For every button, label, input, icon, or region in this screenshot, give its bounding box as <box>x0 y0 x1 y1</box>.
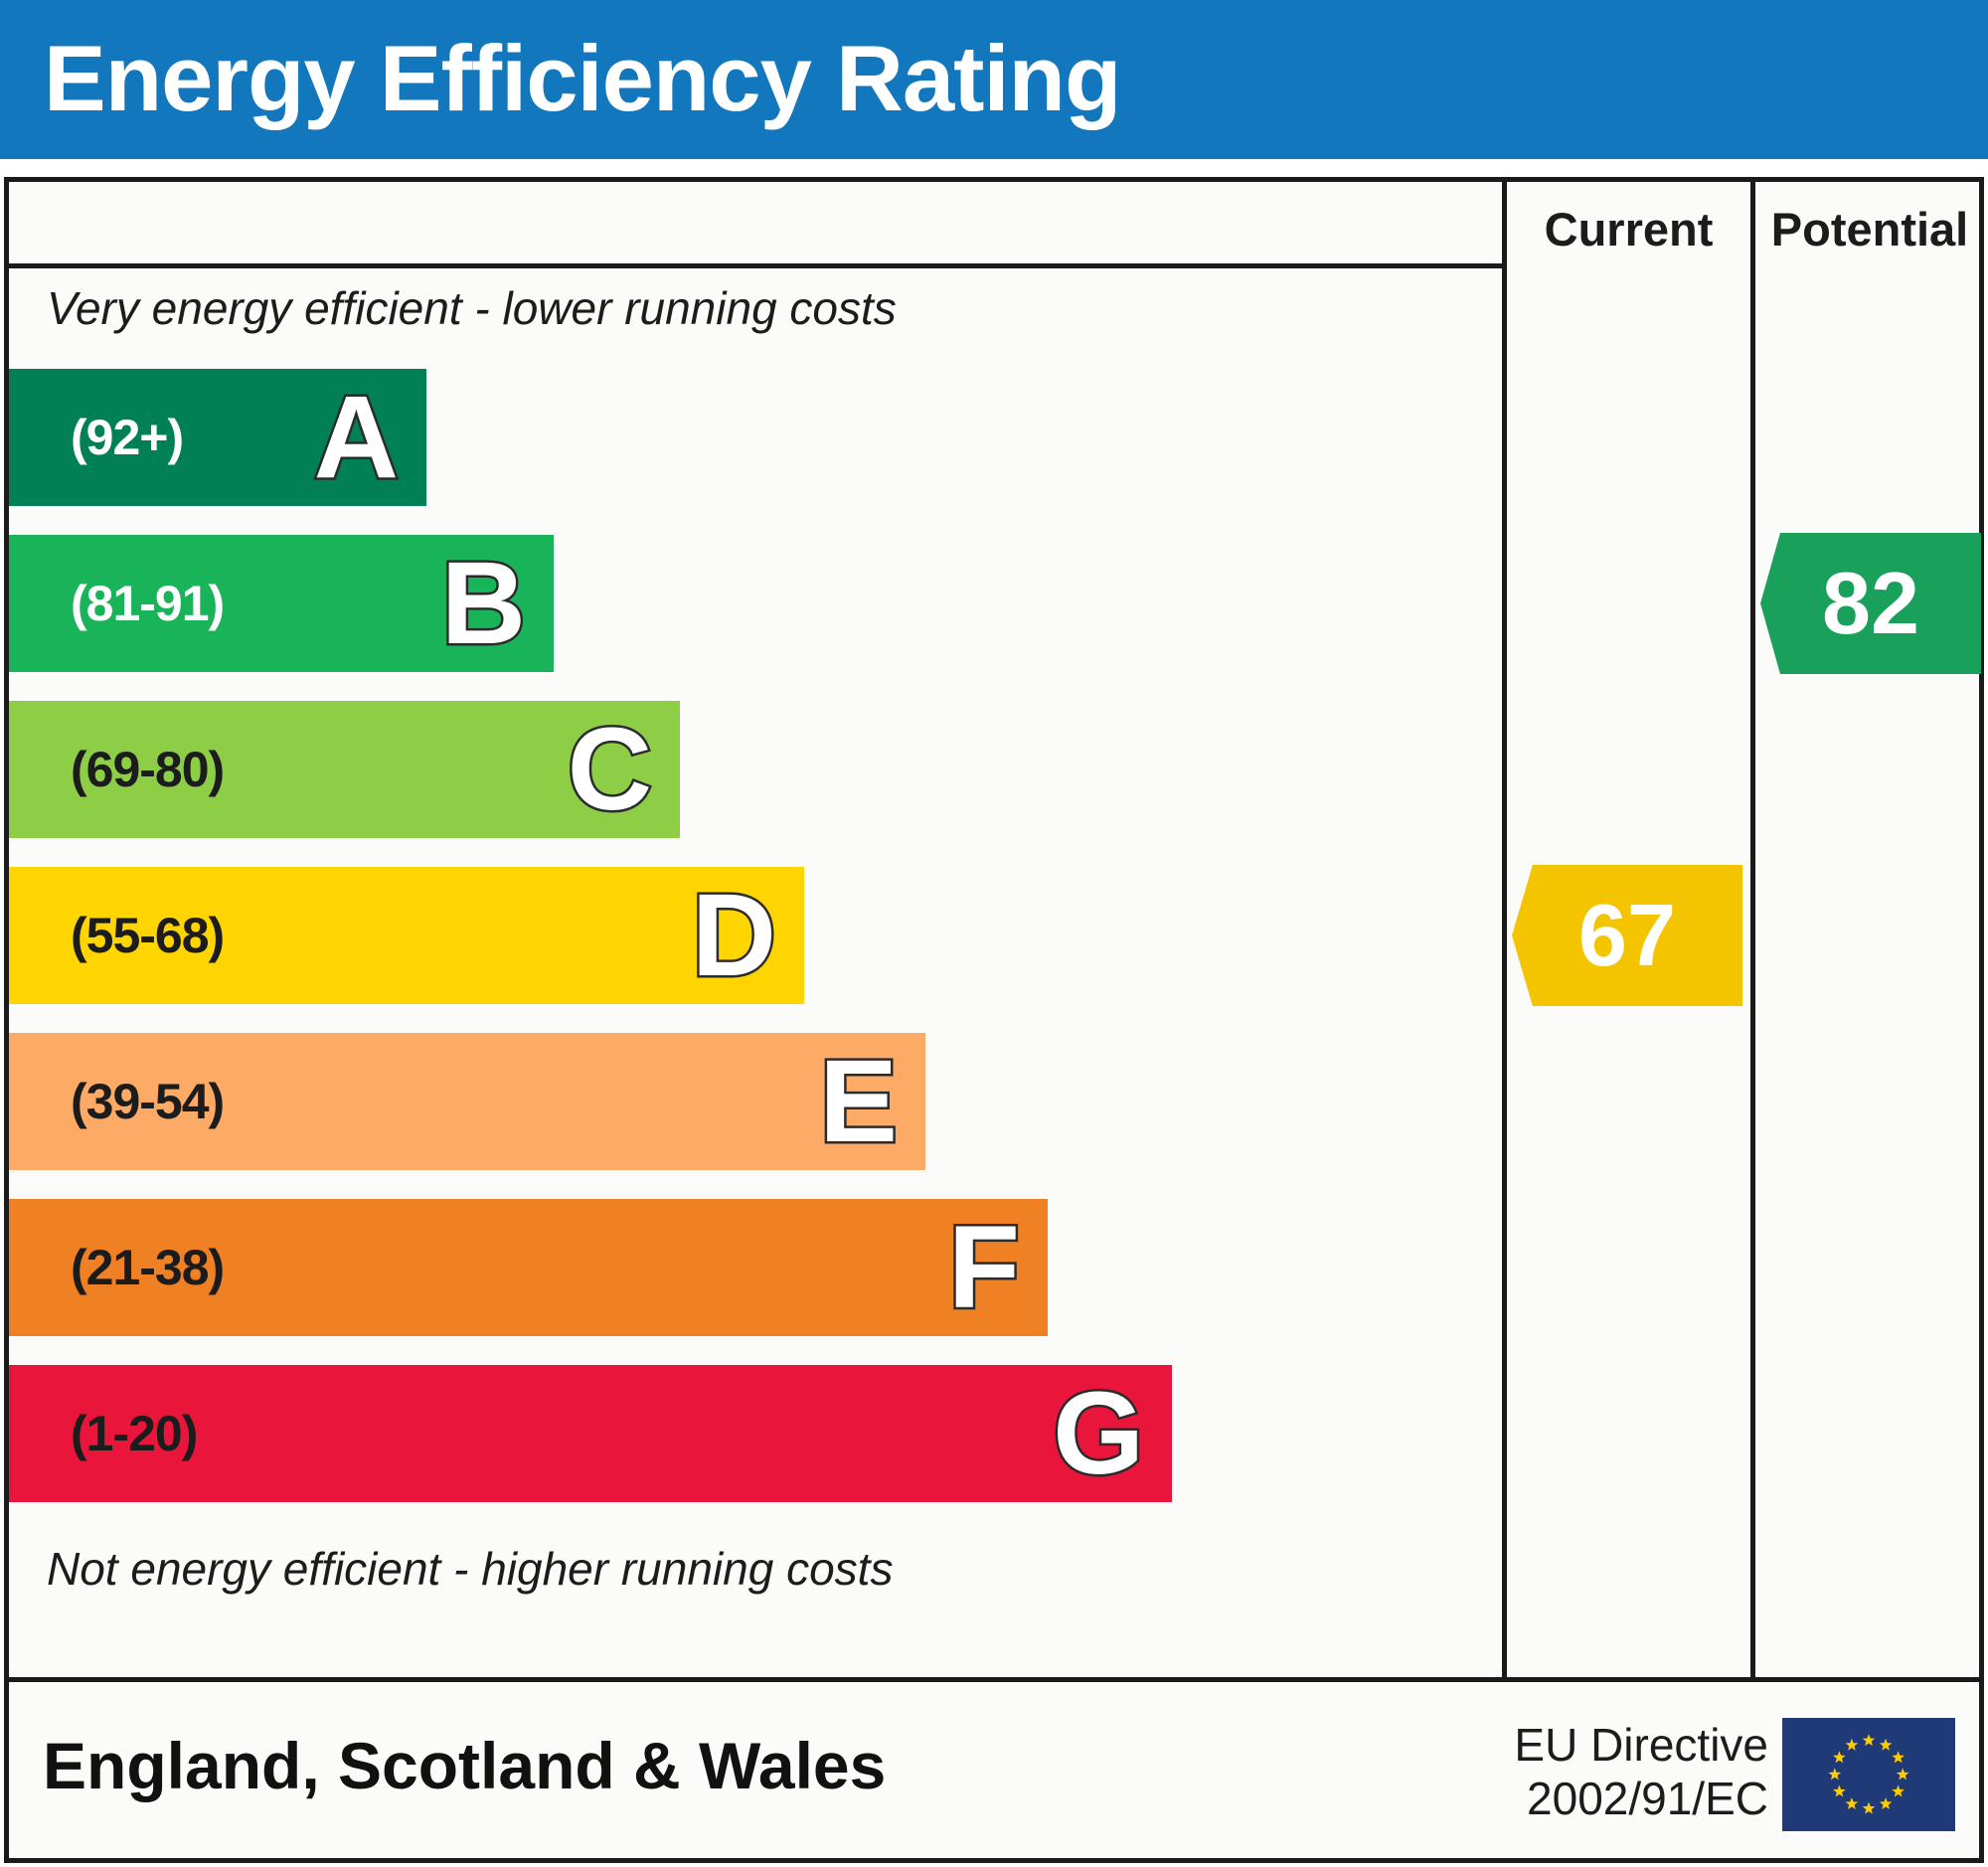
page-title: Energy Efficiency Rating <box>44 26 1120 130</box>
chart-frame: Current Potential Very energy efficient … <box>4 177 1984 1682</box>
title-bar: Energy Efficiency Rating <box>0 0 1988 159</box>
eu-directive-line1: EU Directive <box>1514 1718 1768 1772</box>
band-range-e: (39-54) <box>71 1073 224 1130</box>
band-b: (81-91)B <box>9 535 554 672</box>
band-letter-d: D <box>692 877 776 994</box>
band-a: (92+)A <box>9 369 426 506</box>
band-letter-g: G <box>1053 1375 1144 1492</box>
band-range-b: (81-91) <box>71 575 224 632</box>
band-letter-c: C <box>568 711 652 828</box>
rating-arrow-potential: 82 <box>1760 533 1981 674</box>
band-range-f: (21-38) <box>71 1239 224 1296</box>
band-c: (69-80)C <box>9 701 680 838</box>
band-e: (39-54)E <box>9 1033 925 1170</box>
eu-flag-stars-icon <box>1782 1718 1955 1831</box>
rating-bands: (92+)A(81-91)B(69-80)C(55-68)D(39-54)E(2… <box>9 369 1497 1532</box>
caption-bottom: Not energy efficient - higher running co… <box>47 1542 893 1596</box>
eu-flag-icon <box>1780 1716 1957 1833</box>
caption-top: Very energy efficient - lower running co… <box>47 281 897 335</box>
eu-directive-line2: 2002/91/EC <box>1514 1772 1768 1825</box>
potential-column-divider <box>1750 182 1755 1677</box>
band-range-d: (55-68) <box>71 907 224 964</box>
band-letter-e: E <box>819 1043 898 1160</box>
band-range-c: (69-80) <box>71 741 224 798</box>
band-letter-f: F <box>948 1209 1020 1326</box>
band-g: (1-20)G <box>9 1365 1172 1502</box>
eu-directive-label: EU Directive 2002/91/EC <box>1514 1718 1768 1825</box>
band-f: (21-38)F <box>9 1199 1048 1336</box>
band-range-a: (92+) <box>71 409 183 466</box>
region-label: England, Scotland & Wales <box>43 1728 886 1803</box>
current-column-divider <box>1502 182 1507 1677</box>
band-d: (55-68)D <box>9 867 804 1004</box>
band-letter-b: B <box>441 545 526 662</box>
column-header-potential: Potential <box>1755 196 1984 261</box>
rating-arrow-current: 67 <box>1512 865 1742 1006</box>
band-range-g: (1-20) <box>71 1405 197 1462</box>
band-letter-a: A <box>314 379 399 496</box>
header-divider <box>9 263 1502 268</box>
footer: England, Scotland & Wales EU Directive 2… <box>4 1682 1984 1863</box>
column-header-current: Current <box>1507 196 1750 261</box>
energy-efficiency-rating-chart: Energy Efficiency Rating Current Potenti… <box>0 0 1988 1867</box>
